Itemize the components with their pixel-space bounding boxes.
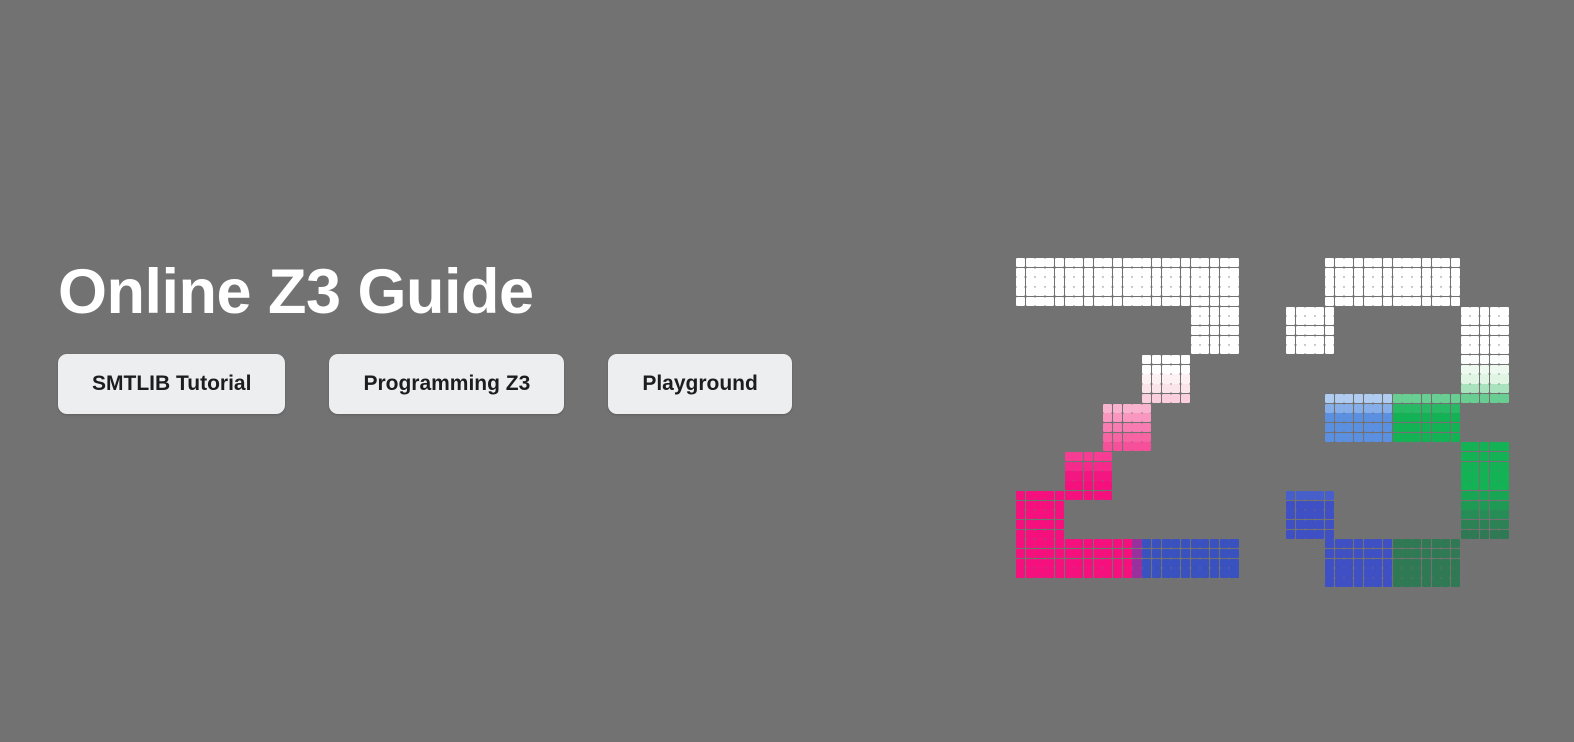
logo-pixel <box>1181 258 1190 267</box>
z3-logo <box>1016 258 1526 584</box>
logo-pixel <box>1325 501 1334 510</box>
logo-pixel <box>1026 510 1035 519</box>
logo-pixel <box>1045 510 1054 519</box>
logo-pixel <box>1132 287 1141 296</box>
logo-pixel <box>1026 568 1035 577</box>
logo-pixel <box>1480 510 1489 519</box>
logo-pixel <box>1200 559 1209 568</box>
logo-pixel <box>1055 287 1064 296</box>
logo-pixel <box>1499 365 1508 374</box>
logo-pixel <box>1084 549 1093 558</box>
logo-pixel <box>1441 433 1450 442</box>
logo-pixel <box>1065 452 1074 461</box>
logo-pixel <box>1490 394 1499 403</box>
logo-pixel <box>1220 316 1229 325</box>
logo-pixel <box>1296 501 1305 510</box>
logo-pixel <box>1045 559 1054 568</box>
logo-pixel <box>1393 404 1402 413</box>
logo-pixel <box>1315 336 1324 345</box>
logo-pixel <box>1441 404 1450 413</box>
logo-pixel <box>1191 326 1200 335</box>
logo-pixel <box>1210 277 1219 286</box>
logo-pixel <box>1412 423 1421 432</box>
logo-pixel <box>1152 559 1161 568</box>
logo-pixel <box>1142 559 1151 568</box>
logo-pixel <box>1480 491 1489 500</box>
logo-pixel <box>1461 355 1470 364</box>
logo-pixel <box>1229 345 1238 354</box>
logo-pixel <box>1499 491 1508 500</box>
logo-pixel <box>1335 258 1344 267</box>
logo-pixel <box>1490 316 1499 325</box>
logo-pixel <box>1373 539 1382 548</box>
logo-glyph-z <box>1016 258 1254 584</box>
logo-pixel <box>1499 452 1508 461</box>
logo-pixel <box>1451 413 1460 422</box>
logo-pixel <box>1113 297 1122 306</box>
logo-glyph-3 <box>1286 258 1526 584</box>
logo-pixel <box>1220 568 1229 577</box>
logo-pixel <box>1490 481 1499 490</box>
logo-pixel <box>1016 539 1025 548</box>
logo-pixel <box>1026 287 1035 296</box>
logo-pixel <box>1035 539 1044 548</box>
logo-pixel <box>1162 559 1171 568</box>
logo-pixel <box>1451 423 1460 432</box>
logo-pixel <box>1142 384 1151 393</box>
logo-pixel <box>1171 394 1180 403</box>
logo-pixel <box>1113 559 1122 568</box>
logo-pixel <box>1171 355 1180 364</box>
logo-pixel <box>1065 568 1074 577</box>
logo-pixel <box>1470 307 1479 316</box>
logo-pixel <box>1286 326 1295 335</box>
logo-pixel <box>1220 287 1229 296</box>
logo-pixel <box>1490 471 1499 480</box>
logo-pixel <box>1499 394 1508 403</box>
logo-pixel <box>1461 374 1470 383</box>
logo-pixel <box>1026 297 1035 306</box>
logo-pixel <box>1393 549 1402 558</box>
logo-pixel <box>1364 539 1373 548</box>
logo-pixel <box>1480 365 1489 374</box>
logo-pixel <box>1035 549 1044 558</box>
logo-pixel <box>1490 530 1499 539</box>
logo-pixel <box>1065 539 1074 548</box>
logo-pixel <box>1422 258 1431 267</box>
logo-pixel <box>1305 510 1314 519</box>
logo-pixel <box>1461 345 1470 354</box>
logo-pixel <box>1200 297 1209 306</box>
logo-pixel <box>1499 345 1508 354</box>
logo-pixel <box>1383 277 1392 286</box>
logo-pixel <box>1074 258 1083 267</box>
logo-pixel <box>1461 336 1470 345</box>
logo-pixel <box>1432 559 1441 568</box>
logo-pixel <box>1461 501 1470 510</box>
logo-pixel <box>1103 268 1112 277</box>
logo-pixel <box>1191 297 1200 306</box>
logo-pixel <box>1113 287 1122 296</box>
logo-pixel <box>1045 287 1054 296</box>
logo-pixel <box>1142 423 1151 432</box>
logo-pixel <box>1383 559 1392 568</box>
logo-pixel <box>1286 316 1295 325</box>
logo-pixel <box>1142 258 1151 267</box>
logo-pixel <box>1393 539 1402 548</box>
logo-pixel <box>1325 578 1334 587</box>
logo-pixel <box>1084 287 1093 296</box>
logo-pixel <box>1441 277 1450 286</box>
logo-pixel <box>1152 374 1161 383</box>
logo-pixel <box>1210 345 1219 354</box>
logo-pixel <box>1142 539 1151 548</box>
logo-pixel <box>1325 268 1334 277</box>
logo-pixel <box>1344 277 1353 286</box>
logo-pixel <box>1344 268 1353 277</box>
logo-pixel <box>1441 559 1450 568</box>
logo-pixel <box>1016 287 1025 296</box>
logo-pixel <box>1373 578 1382 587</box>
logo-pixel <box>1499 501 1508 510</box>
logo-pixel <box>1103 481 1112 490</box>
logo-pixel <box>1364 404 1373 413</box>
logo-pixel <box>1296 345 1305 354</box>
logo-pixel <box>1094 471 1103 480</box>
logo-pixel <box>1490 452 1499 461</box>
logo-pixel <box>1354 258 1363 267</box>
logo-pixel <box>1470 520 1479 529</box>
logo-pixel <box>1220 559 1229 568</box>
logo-pixel <box>1026 539 1035 548</box>
logo-pixel <box>1094 549 1103 558</box>
logo-pixel <box>1354 549 1363 558</box>
logo-pixel <box>1422 568 1431 577</box>
logo-pixel <box>1162 384 1171 393</box>
logo-pixel <box>1402 394 1411 403</box>
logo-pixel <box>1162 268 1171 277</box>
logo-pixel <box>1490 336 1499 345</box>
logo-pixel <box>1344 394 1353 403</box>
logo-pixel <box>1480 336 1489 345</box>
logo-pixel <box>1432 433 1441 442</box>
logo-pixel <box>1432 404 1441 413</box>
logo-pixel <box>1152 539 1161 548</box>
logo-pixel <box>1171 559 1180 568</box>
logo-pixel <box>1035 568 1044 577</box>
logo-pixel <box>1480 442 1489 451</box>
logo-pixel <box>1171 549 1180 558</box>
logo-pixel <box>1402 258 1411 267</box>
logo-pixel <box>1344 433 1353 442</box>
logo-pixel <box>1055 559 1064 568</box>
logo-pixel <box>1132 404 1141 413</box>
logo-pixel <box>1364 423 1373 432</box>
logo-pixel <box>1191 316 1200 325</box>
logo-pixel <box>1123 258 1132 267</box>
logo-pixel <box>1055 510 1064 519</box>
logo-pixel <box>1461 365 1470 374</box>
logo-pixel <box>1191 549 1200 558</box>
logo-pixel <box>1084 481 1093 490</box>
logo-pixel <box>1451 549 1460 558</box>
logo-pixel <box>1383 413 1392 422</box>
logo-pixel <box>1191 559 1200 568</box>
logo-pixel <box>1123 539 1132 548</box>
logo-pixel <box>1393 413 1402 422</box>
logo-pixel <box>1441 258 1450 267</box>
logo-pixel <box>1035 491 1044 500</box>
logo-pixel <box>1229 268 1238 277</box>
logo-pixel <box>1441 268 1450 277</box>
logo-pixel <box>1325 549 1334 558</box>
logo-pixel <box>1035 520 1044 529</box>
logo-pixel <box>1103 433 1112 442</box>
logo-pixel <box>1181 365 1190 374</box>
logo-pixel <box>1171 268 1180 277</box>
logo-pixel <box>1393 559 1402 568</box>
logo-pixel <box>1016 549 1025 558</box>
logo-pixel <box>1094 559 1103 568</box>
logo-pixel <box>1325 491 1334 500</box>
cta-button-row: SMTLIB Tutorial Programming Z3 Playgroun… <box>58 354 978 414</box>
logo-pixel <box>1480 452 1489 461</box>
logo-pixel <box>1325 394 1334 403</box>
logo-pixel <box>1422 559 1431 568</box>
logo-pixel <box>1152 568 1161 577</box>
logo-pixel <box>1200 539 1209 548</box>
logo-pixel <box>1181 297 1190 306</box>
logo-pixel <box>1451 268 1460 277</box>
logo-pixel <box>1103 404 1112 413</box>
logo-pixel <box>1016 277 1025 286</box>
logo-pixel <box>1373 559 1382 568</box>
logo-pixel <box>1123 297 1132 306</box>
logo-pixel <box>1470 452 1479 461</box>
logo-pixel <box>1065 277 1074 286</box>
logo-pixel <box>1123 549 1132 558</box>
logo-pixel <box>1422 404 1431 413</box>
logo-pixel <box>1210 287 1219 296</box>
logo-pixel <box>1074 452 1083 461</box>
logo-pixel <box>1441 297 1450 306</box>
logo-pixel <box>1181 559 1190 568</box>
logo-pixel <box>1422 268 1431 277</box>
logo-pixel <box>1422 287 1431 296</box>
logo-pixel <box>1499 355 1508 364</box>
logo-pixel <box>1065 297 1074 306</box>
logo-pixel <box>1123 433 1132 442</box>
logo-pixel <box>1412 433 1421 442</box>
logo-pixel <box>1286 307 1295 316</box>
logo-pixel <box>1210 549 1219 558</box>
logo-pixel <box>1422 413 1431 422</box>
logo-pixel <box>1422 539 1431 548</box>
logo-pixel <box>1344 287 1353 296</box>
logo-pixel <box>1335 433 1344 442</box>
logo-pixel <box>1325 559 1334 568</box>
logo-pixel <box>1344 549 1353 558</box>
logo-pixel <box>1499 374 1508 383</box>
logo-pixel <box>1074 462 1083 471</box>
logo-pixel <box>1354 297 1363 306</box>
logo-pixel <box>1344 568 1353 577</box>
logo-pixel <box>1296 326 1305 335</box>
logo-pixel <box>1383 404 1392 413</box>
logo-pixel <box>1432 268 1441 277</box>
logo-pixel <box>1373 268 1382 277</box>
logo-pixel <box>1171 384 1180 393</box>
logo-pixel <box>1470 481 1479 490</box>
logo-pixel <box>1354 433 1363 442</box>
logo-pixel <box>1325 287 1334 296</box>
logo-pixel <box>1229 549 1238 558</box>
logo-pixel <box>1412 539 1421 548</box>
logo-pixel <box>1315 316 1324 325</box>
logo-pixel <box>1470 345 1479 354</box>
logo-pixel <box>1142 442 1151 451</box>
logo-pixel <box>1432 568 1441 577</box>
logo-pixel <box>1344 297 1353 306</box>
logo-pixel <box>1103 413 1112 422</box>
logo-pixel <box>1103 471 1112 480</box>
logo-pixel <box>1113 404 1122 413</box>
logo-pixel <box>1383 268 1392 277</box>
logo-pixel <box>1470 374 1479 383</box>
logo-pixel <box>1451 258 1460 267</box>
logo-pixel <box>1045 277 1054 286</box>
logo-pixel <box>1325 297 1334 306</box>
logo-pixel <box>1065 549 1074 558</box>
logo-pixel <box>1286 491 1295 500</box>
logo-pixel <box>1074 559 1083 568</box>
logo-pixel <box>1123 568 1132 577</box>
logo-pixel <box>1200 307 1209 316</box>
logo-pixel <box>1162 277 1171 286</box>
logo-pixel <box>1026 258 1035 267</box>
logo-pixel <box>1142 365 1151 374</box>
logo-pixel <box>1315 326 1324 335</box>
logo-pixel <box>1045 491 1054 500</box>
logo-pixel <box>1210 539 1219 548</box>
logo-pixel <box>1123 277 1132 286</box>
logo-pixel <box>1402 559 1411 568</box>
logo-pixel <box>1152 258 1161 267</box>
logo-pixel <box>1461 316 1470 325</box>
logo-pixel <box>1412 568 1421 577</box>
logo-pixel <box>1103 491 1112 500</box>
logo-pixel <box>1364 394 1373 403</box>
logo-pixel <box>1210 258 1219 267</box>
logo-pixel <box>1171 258 1180 267</box>
logo-pixel <box>1325 433 1334 442</box>
logo-pixel <box>1364 258 1373 267</box>
logo-pixel <box>1162 355 1171 364</box>
logo-pixel <box>1383 297 1392 306</box>
logo-pixel <box>1084 277 1093 286</box>
logo-pixel <box>1470 530 1479 539</box>
logo-pixel <box>1470 326 1479 335</box>
logo-pixel <box>1441 549 1450 558</box>
logo-pixel <box>1393 258 1402 267</box>
logo-pixel <box>1480 374 1489 383</box>
logo-pixel <box>1103 462 1112 471</box>
logo-pixel <box>1103 287 1112 296</box>
logo-pixel <box>1344 539 1353 548</box>
logo-pixel <box>1432 297 1441 306</box>
logo-pixel <box>1065 287 1074 296</box>
logo-pixel <box>1499 384 1508 393</box>
programming-z3-button[interactable]: Programming Z3 <box>329 354 564 414</box>
logo-pixel <box>1094 491 1103 500</box>
logo-pixel <box>1305 491 1314 500</box>
logo-pixel <box>1393 268 1402 277</box>
logo-pixel <box>1393 277 1402 286</box>
smtlib-tutorial-button[interactable]: SMTLIB Tutorial <box>58 354 285 414</box>
logo-pixel <box>1074 297 1083 306</box>
logo-pixel <box>1210 336 1219 345</box>
logo-pixel <box>1354 268 1363 277</box>
logo-pixel <box>1461 471 1470 480</box>
logo-pixel <box>1103 297 1112 306</box>
logo-pixel <box>1074 277 1083 286</box>
logo-pixel <box>1045 520 1054 529</box>
logo-pixel <box>1432 423 1441 432</box>
logo-pixel <box>1035 258 1044 267</box>
logo-pixel <box>1373 413 1382 422</box>
logo-pixel <box>1325 277 1334 286</box>
logo-pixel <box>1065 268 1074 277</box>
logo-pixel <box>1470 384 1479 393</box>
logo-pixel <box>1123 442 1132 451</box>
logo-pixel <box>1335 578 1344 587</box>
logo-pixel <box>1499 481 1508 490</box>
logo-pixel <box>1162 287 1171 296</box>
logo-pixel <box>1364 297 1373 306</box>
logo-pixel <box>1364 433 1373 442</box>
logo-pixel <box>1026 530 1035 539</box>
logo-pixel <box>1402 568 1411 577</box>
logo-pixel <box>1461 452 1470 461</box>
logo-pixel <box>1422 578 1431 587</box>
logo-pixel <box>1103 559 1112 568</box>
logo-pixel <box>1094 297 1103 306</box>
logo-pixel <box>1045 549 1054 558</box>
logo-pixel <box>1016 501 1025 510</box>
logo-pixel <box>1142 287 1151 296</box>
logo-pixel <box>1305 307 1314 316</box>
logo-pixel <box>1220 297 1229 306</box>
logo-pixel <box>1451 568 1460 577</box>
logo-pixel <box>1470 365 1479 374</box>
logo-pixel <box>1171 297 1180 306</box>
logo-pixel <box>1383 287 1392 296</box>
logo-pixel <box>1200 326 1209 335</box>
logo-pixel <box>1441 394 1450 403</box>
logo-pixel <box>1094 568 1103 577</box>
logo-pixel <box>1461 394 1470 403</box>
logo-pixel <box>1181 539 1190 548</box>
logo-pixel <box>1451 404 1460 413</box>
logo-pixel <box>1210 297 1219 306</box>
logo-pixel <box>1480 520 1489 529</box>
playground-button[interactable]: Playground <box>608 354 792 414</box>
logo-pixel <box>1055 520 1064 529</box>
logo-pixel <box>1373 258 1382 267</box>
logo-pixel <box>1296 530 1305 539</box>
logo-pixel <box>1220 307 1229 316</box>
logo-pixel <box>1490 520 1499 529</box>
